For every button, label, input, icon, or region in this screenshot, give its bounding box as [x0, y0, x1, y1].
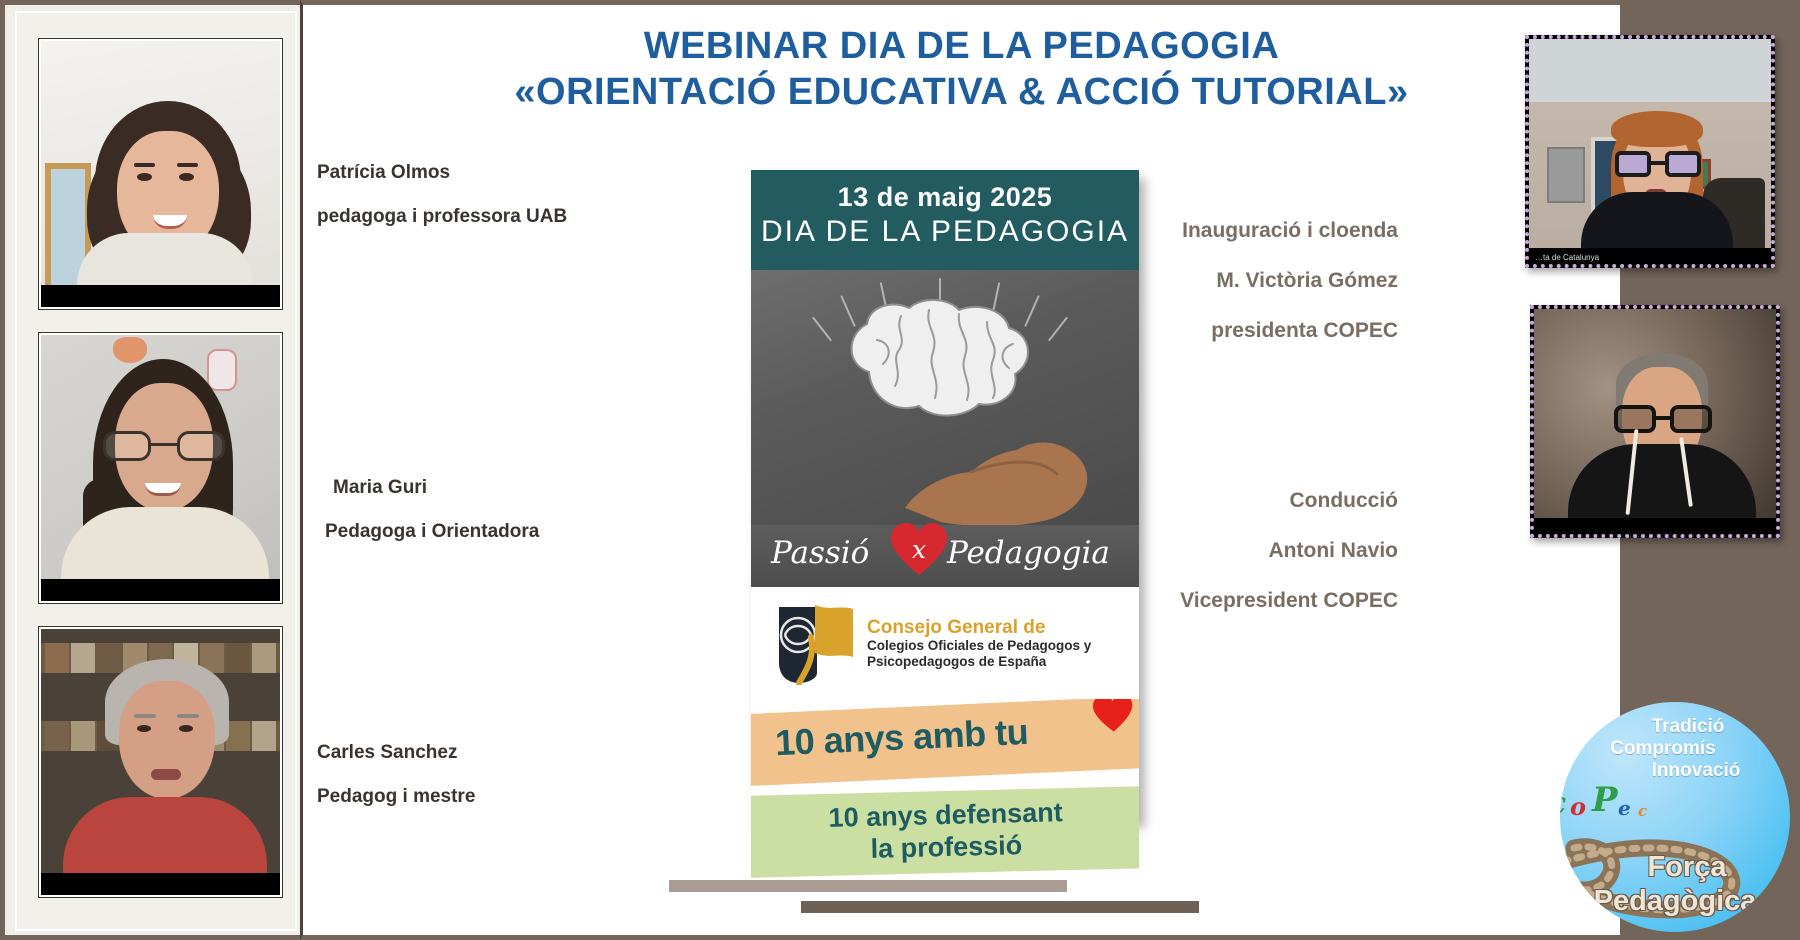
webcam-tile-victoria[interactable]: …ta de Catalunya — [1525, 35, 1775, 268]
webcam-tile-antoni[interactable] — [1530, 305, 1780, 538]
copec-slogan-line-1: Tradició — [1560, 716, 1790, 738]
copec-motto: Força Pedagògica — [1560, 850, 1790, 918]
conduccio-line-1: Conducció — [1180, 488, 1398, 513]
avatar-patricia — [41, 41, 280, 307]
consejo-logo-mark — [777, 601, 855, 685]
webcam-tile-patricia[interactable] — [39, 39, 282, 309]
brain-icon — [837, 294, 1053, 434]
poster-event-name: DIA DE LA PEDAGOGIA — [751, 215, 1139, 249]
tagline-heart-icon: x — [891, 523, 947, 577]
band-heart-icon — [1092, 699, 1134, 734]
copec-motto-line-1: Força — [1560, 850, 1790, 884]
avatar-victoria — [1529, 39, 1771, 264]
letterbox-bar — [41, 285, 280, 307]
letterbox-bar — [41, 579, 280, 601]
avatar-antoni — [1534, 309, 1776, 534]
progress-bar-light[interactable] — [669, 880, 1067, 892]
speaker-name-patricia: Patrícia Olmos — [317, 162, 567, 184]
green-band-text: 10 anys defensant la professió — [760, 794, 1131, 867]
video-feed-patricia — [41, 41, 280, 307]
webcam-tile-maria[interactable] — [39, 333, 282, 603]
copec-slogan-line-2: Compromís — [1560, 738, 1790, 760]
letterbox-bar — [41, 873, 280, 895]
filmstrip-inner — [15, 11, 297, 931]
copec-slogan-line-3: Innovació — [1560, 760, 1790, 782]
webcam-tile-carles[interactable] — [39, 627, 282, 897]
progress-bar-dark[interactable] — [801, 901, 1199, 913]
consejo-title: Consejo General de — [867, 617, 1091, 638]
speaker-role-carles: Pedagog i mestre — [317, 786, 475, 808]
speaker-role-maria: Pedagoga i Orientadora — [325, 521, 539, 543]
participant-filmstrip — [0, 0, 300, 940]
copec-slogan: Tradició Compromís Innovació — [1560, 716, 1790, 782]
poster-header: 13 de maig 2025 DIA DE LA PEDAGOGIA — [751, 170, 1139, 270]
consejo-subtitle-2: Psicopedagogos de España — [867, 654, 1091, 670]
hand-icon — [901, 422, 1091, 525]
avatar-carles — [41, 629, 280, 895]
speaker-caption-carles: Carles Sanchez Pedagog i mestre — [317, 720, 475, 830]
consejo-subtitle-1: Colegios Oficiales de Pedagogos y — [867, 638, 1091, 654]
speaker-caption-patricia: Patrícia Olmos pedagoga i professora UAB — [317, 140, 567, 250]
event-poster: 13 de maig 2025 DIA DE LA PEDAGOGIA — [751, 170, 1139, 820]
avatar-maria — [41, 335, 280, 601]
conduccio-line-2: Antoni Navio — [1180, 538, 1398, 563]
video-feed-maria — [41, 335, 280, 601]
inauguracio-line-1: Inauguració i cloenda — [1182, 218, 1398, 243]
poster-anniversary-bands: 10 anys amb tu 10 anys defensant la prof… — [751, 699, 1139, 879]
caption-inauguracio: Inauguració i cloenda M. Victòria Gómez … — [1182, 193, 1398, 368]
caption-conduccio: Conducció Antoni Navio Vicepresident COP… — [1180, 463, 1398, 638]
consejo-logo-text: Consejo General de Colegios Oficiales de… — [867, 617, 1091, 670]
poster-brain-illustration — [751, 270, 1139, 525]
slide-canvas: WEBINAR DIA DE LA PEDAGOGIA «ORIENTACIÓ … — [300, 0, 1620, 940]
title-line-1: WEBINAR DIA DE LA PEDAGOGIA — [303, 23, 1620, 69]
title-line-2: «ORIENTACIÓ EDUCATIVA & ACCIÓ TUTORIAL» — [303, 69, 1620, 115]
tagline-left: Passió — [771, 535, 869, 571]
inauguracio-line-3: presidenta COPEC — [1182, 318, 1398, 343]
slide-title: WEBINAR DIA DE LA PEDAGOGIA «ORIENTACIÓ … — [303, 23, 1620, 115]
presentation-screen: WEBINAR DIA DE LA PEDAGOGIA «ORIENTACIÓ … — [0, 0, 1800, 940]
tagline-right: Pedagogia — [947, 535, 1110, 571]
speaker-role-patricia: pedagoga i professora UAB — [317, 206, 567, 228]
conduccio-line-3: Vicepresident COPEC — [1180, 588, 1398, 613]
speaker-name-maria: Maria Guri — [333, 477, 539, 499]
poster-date: 13 de maig 2025 — [751, 182, 1139, 213]
video-feed-carles — [41, 629, 280, 895]
speaker-caption-maria: Maria Guri Pedagoga i Orientadora — [325, 455, 539, 565]
speaker-name-carles: Carles Sanchez — [317, 742, 475, 764]
letterbox-bar — [1534, 518, 1776, 534]
tagline-symbol: x — [891, 535, 947, 564]
copec-logo: Tradició Compromís Innovació c o P e c F… — [1560, 702, 1790, 932]
consejo-general-logo: Consejo General de Colegios Oficiales de… — [751, 587, 1139, 699]
copec-motto-line-2: Pedagògica — [1594, 885, 1757, 917]
video-caption-victoria: …ta de Catalunya — [1535, 253, 1599, 262]
poster-tagline: Passió x Pedagogia — [751, 525, 1139, 587]
inauguracio-line-2: M. Victòria Gómez — [1182, 268, 1398, 293]
